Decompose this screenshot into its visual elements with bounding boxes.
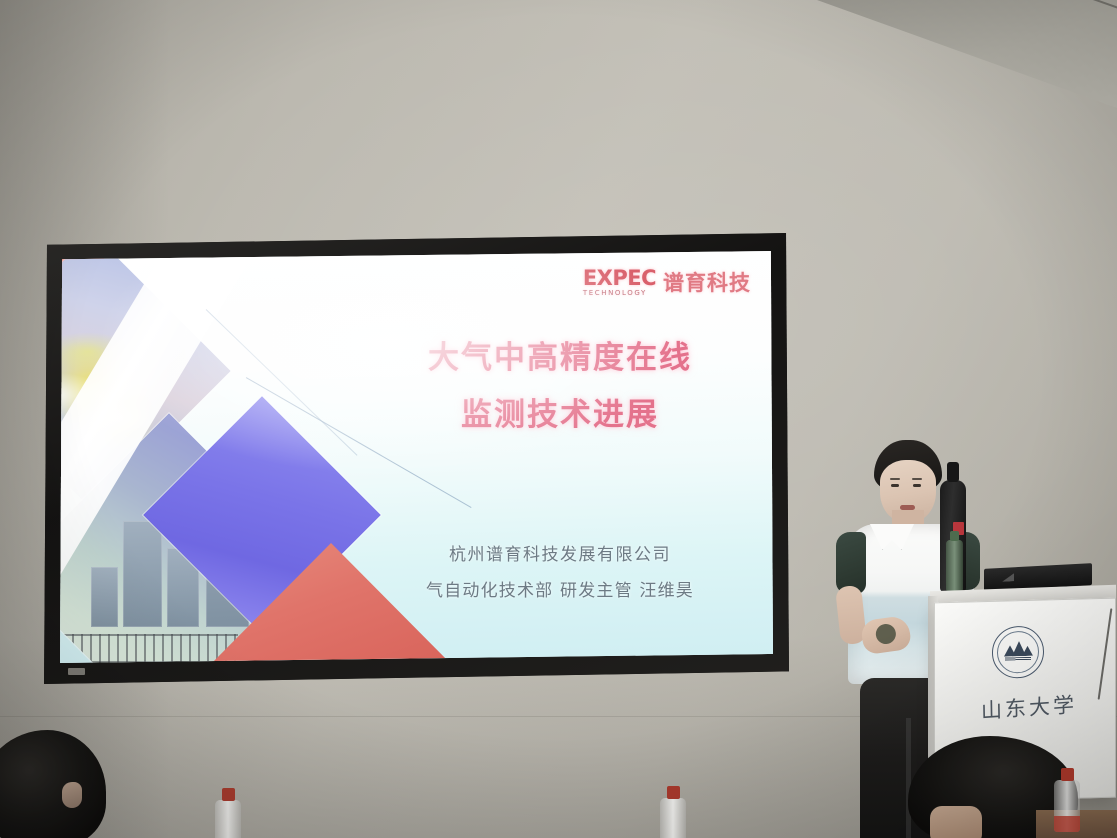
brand-logo: EXPEC TECHNOLOGY 谱育科技 bbox=[583, 267, 751, 297]
water-bottle-foreground-2 bbox=[660, 798, 686, 838]
street-fence bbox=[63, 634, 238, 663]
mountain-glyph bbox=[1004, 644, 1032, 661]
slide-subtitle: 杭州谱育科技发展有限公司 气自动化技术部 研发主管 汪维昊 bbox=[360, 547, 760, 600]
presenter-eye-left bbox=[891, 484, 899, 487]
presentation-room-photo: EXPEC TECHNOLOGY 谱育科技 大气中高精度在线 监测技术进展 杭州… bbox=[0, 0, 1117, 838]
slide-title-line-2: 监测技术进展 bbox=[360, 400, 760, 431]
slide-screen: EXPEC TECHNOLOGY 谱育科技 大气中高精度在线 监测技术进展 杭州… bbox=[60, 251, 773, 663]
presenter-sleeve-left bbox=[836, 532, 866, 594]
university-emblem-icon bbox=[992, 626, 1044, 679]
ceiling-edge-line bbox=[817, 0, 1117, 110]
slide-title-line-1: 大气中高精度在线 bbox=[360, 343, 760, 374]
slide-title: 大气中高精度在线 监测技术进展 bbox=[360, 343, 760, 431]
green-bottle-on-podium bbox=[946, 540, 963, 592]
presenter-eyebrow-right bbox=[912, 478, 922, 480]
presenter-eyebrow-left bbox=[890, 478, 900, 480]
building-shape bbox=[91, 567, 119, 627]
building-shape bbox=[123, 521, 162, 627]
audience-neck-right bbox=[930, 806, 982, 838]
presentation-display: EXPEC TECHNOLOGY 谱育科技 大气中高精度在线 监测技术进展 杭州… bbox=[44, 233, 789, 684]
slide-subtitle-company: 杭州谱育科技发展有限公司 bbox=[360, 547, 760, 564]
brand-tagline: TECHNOLOGY bbox=[583, 290, 656, 297]
water-bottle-foreground-1 bbox=[215, 800, 241, 838]
brand-name-cn: 谱育科技 bbox=[663, 267, 751, 297]
brand-logo-mark: EXPEC TECHNOLOGY bbox=[583, 268, 656, 297]
audience-ear-left bbox=[62, 782, 82, 808]
slide-subtitle-presenter: 气自动化技术部 研发主管 汪维昊 bbox=[360, 583, 760, 600]
university-name-calligraphy: 山东大学 bbox=[974, 688, 1085, 726]
display-power-button[interactable] bbox=[68, 668, 85, 675]
brand-name-en: EXPEC bbox=[583, 268, 656, 289]
slide-photo-collage bbox=[60, 251, 390, 663]
presenter-eye-right bbox=[913, 484, 921, 487]
water-bottle-foreground-3 bbox=[1054, 780, 1080, 832]
